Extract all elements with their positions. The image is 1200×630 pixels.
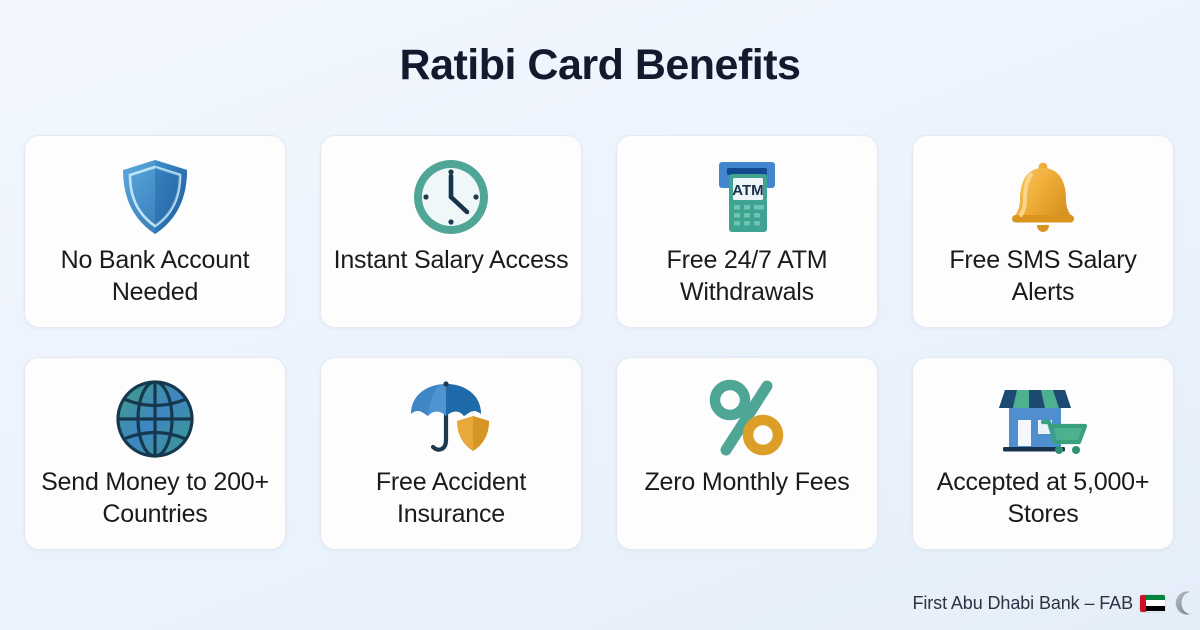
benefit-label: Send Money to 200+ Countries xyxy=(25,462,285,530)
benefit-card-no-bank-account[interactable]: No Bank Account Needed xyxy=(24,135,286,328)
benefit-label: Instant Salary Access xyxy=(324,240,579,276)
benefit-card-atm-withdrawals[interactable]: ATM Free 24/7 ATM Withdrawals xyxy=(616,135,878,328)
benefit-label: Free SMS Salary Alerts xyxy=(913,240,1173,308)
benefit-card-accepted-stores[interactable]: Accepted at 5,000+ Stores xyxy=(912,357,1174,550)
storefront-cart-icon xyxy=(997,376,1089,462)
globe-icon xyxy=(115,376,195,462)
benefit-label: Free Accident Insurance xyxy=(321,462,581,530)
umbrella-shield-icon xyxy=(406,376,496,462)
benefit-label: Accepted at 5,000+ Stores xyxy=(913,462,1173,530)
benefit-card-send-money[interactable]: Send Money to 200+ Countries xyxy=(24,357,286,550)
benefit-card-sms-alerts[interactable]: Free SMS Salary Alerts xyxy=(912,135,1174,328)
footer-attribution: First Abu Dhabi Bank – FAB xyxy=(912,590,1190,616)
uae-flag-icon xyxy=(1140,595,1165,612)
bell-icon xyxy=(1004,154,1082,240)
svg-text:ATM: ATM xyxy=(732,182,763,199)
crescent-moon-icon xyxy=(1172,590,1198,616)
shield-icon xyxy=(117,154,193,240)
benefit-card-zero-fees[interactable]: Zero Monthly Fees xyxy=(616,357,878,550)
benefits-grid: No Bank Account Needed Instant Salary Ac… xyxy=(24,135,1176,550)
benefit-label: Zero Monthly Fees xyxy=(634,462,859,498)
benefit-label: Free 24/7 ATM Withdrawals xyxy=(617,240,877,308)
footer-text: First Abu Dhabi Bank – FAB xyxy=(912,593,1133,614)
clock-icon xyxy=(410,154,492,240)
benefits-infographic: Ratibi Card Benefits xyxy=(0,0,1200,630)
percent-icon xyxy=(705,376,789,462)
benefit-card-accident-insurance[interactable]: Free Accident Insurance xyxy=(320,357,582,550)
benefit-label: No Bank Account Needed xyxy=(25,240,285,308)
page-title: Ratibi Card Benefits xyxy=(0,0,1200,89)
atm-icon: ATM xyxy=(707,154,787,240)
benefit-card-instant-salary[interactable]: Instant Salary Access xyxy=(320,135,582,328)
